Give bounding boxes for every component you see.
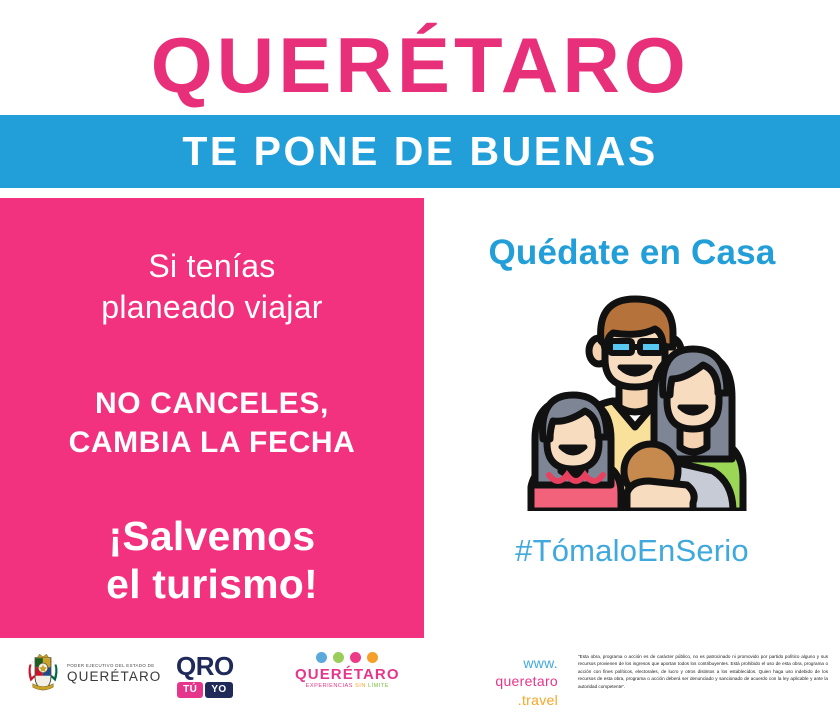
tagline-part-1: EXPERIENCIAS: [306, 683, 353, 689]
qro-badge-tu: TÚ: [177, 682, 203, 698]
qro-badge-yo: YO: [205, 682, 232, 698]
header-subtitle: TE PONE DE BUENAS: [182, 131, 657, 172]
url-tld: .travel: [418, 691, 558, 709]
logo-dots: [316, 652, 378, 663]
url-www: www.: [418, 654, 558, 672]
qro-tu-yo-logo: QRO TÚ YO: [176, 653, 234, 698]
tagline-part-3: LÍMITE: [366, 683, 389, 689]
government-logo: PODER EJECUTIVO DEL ESTADO DE QUERÉTARO: [26, 652, 161, 694]
gov-logo-subtitle: PODER EJECUTIVO DEL ESTADO DE: [67, 663, 161, 668]
pink-message-panel: Si tenías planeado viajar NO CANCELES, C…: [0, 198, 424, 638]
logo-dot-blue: [316, 652, 327, 663]
logo-dot-orange: [367, 652, 378, 663]
experiencias-logo-tagline: EXPERIENCIAS SIN LÍMITE: [306, 684, 389, 690]
url-domain: queretaro: [418, 672, 558, 690]
experiencias-logo: QUERÉTARO EXPERIENCIAS SIN LÍMITE: [295, 652, 400, 690]
page-title: QUERÉTARO: [150, 26, 689, 104]
intro-line-1: Si tenías: [101, 246, 323, 287]
logo-dot-green: [333, 652, 344, 663]
qro-wordmark: QRO: [176, 653, 234, 679]
header-subtitle-band: TE PONE DE BUENAS: [0, 115, 840, 188]
bold-line-1: NO CANCELES,: [69, 384, 356, 423]
poster-canvas: QUERÉTARO TE PONE DE BUENAS Si tenías pl…: [0, 0, 840, 728]
stay-home-heading: Quédate en Casa: [489, 233, 776, 273]
intro-line-2: planeado viajar: [101, 287, 323, 328]
right-content-column: Quédate en Casa: [424, 198, 840, 638]
hashtag-text: #TómaloEnSerio: [515, 533, 749, 569]
slogan-message: ¡Salvemos el turismo!: [106, 512, 318, 609]
header-title-area: QUERÉTARO: [0, 16, 840, 114]
bold-message: NO CANCELES, CAMBIA LA FECHA: [69, 384, 356, 462]
tagline-part-2: SIN: [353, 683, 366, 689]
slogan-line-2: el turismo!: [106, 560, 318, 608]
website-url[interactable]: www. queretaro .travel: [418, 654, 558, 709]
legal-disclaimer: "Esta obra, programa o acción es de cará…: [578, 653, 828, 690]
experiencias-logo-name: QUERÉTARO: [295, 667, 400, 682]
footer-bar: PODER EJECUTIVO DEL ESTADO DE QUERÉTARO …: [0, 638, 840, 728]
queretaro-coat-of-arms-icon: [26, 652, 60, 694]
gov-logo-title: QUERÉTARO: [67, 669, 161, 684]
bold-line-2: CAMBIA LA FECHA: [69, 423, 356, 462]
government-logo-text: PODER EJECUTIVO DEL ESTADO DE QUERÉTARO: [67, 663, 161, 684]
family-illustration-icon: [517, 289, 747, 511]
intro-message: Si tenías planeado viajar: [101, 246, 323, 328]
qro-badges: TÚ YO: [177, 682, 232, 698]
slogan-line-1: ¡Salvemos: [106, 512, 318, 560]
logo-dot-pink: [350, 652, 361, 663]
